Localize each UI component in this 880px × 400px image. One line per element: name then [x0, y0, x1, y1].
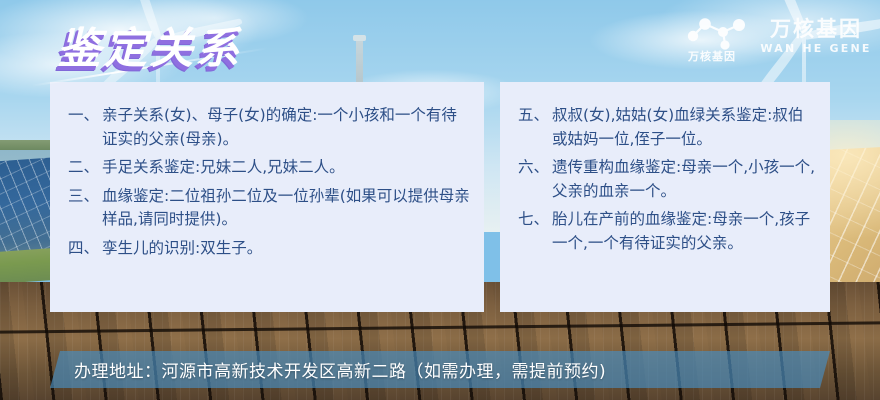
service-list-panel-left: 一、 亲子关系(女)、母子(女)的确定:一个小孩和一个有待证实的父亲(母亲)。 …: [50, 82, 484, 312]
brand-molecule-logo: 万核基因: [683, 16, 761, 64]
brand-wordmark: 万核基因 WAN HE GENE: [760, 18, 872, 55]
list-item: 五、 叔叔(女),姑姑(女)血绿关系鉴定:叔伯或姑妈一位,侄子一位。: [518, 104, 816, 151]
list-item-number: 三、: [68, 185, 102, 209]
list-item-text: 遗传重构血缘鉴定:母亲一个,小孩一个,父亲的血亲一个。: [552, 156, 816, 203]
list-item-number: 六、: [518, 156, 552, 180]
poster-root: 鉴定关系 万核基因 万核基因 WAN HE GENE 一、 亲子关系(女)、母子…: [0, 0, 880, 400]
list-item-number: 五、: [518, 104, 552, 128]
list-item-number: 一、: [68, 104, 102, 128]
list-item-text: 血缘鉴定:二位祖孙二位及一位孙辈(如果可以提供母亲样品,请同时提供)。: [102, 185, 470, 232]
service-list-panel-right: 五、 叔叔(女),姑姑(女)血绿关系鉴定:叔伯或姑妈一位,侄子一位。 六、 遗传…: [500, 82, 830, 312]
list-item-text: 手足关系鉴定:兄妹二人,兄妹二人。: [102, 156, 470, 180]
list-item: 四、 孪生儿的识别:双生子。: [68, 237, 470, 261]
list-item-text: 叔叔(女),姑姑(女)血绿关系鉴定:叔伯或姑妈一位,侄子一位。: [552, 104, 816, 151]
brand-name-en: WAN HE GENE: [760, 42, 872, 55]
address-banner: 办理地址：河源市高新技术开发区高新二路（如需办理，需提前预约): [50, 351, 830, 388]
list-item-number: 七、: [518, 208, 552, 232]
transmission-tower-icon: [356, 40, 363, 86]
list-item: 七、 胎儿在产前的血缘鉴定:母亲一个,孩子一个,一个有待证实的父亲。: [518, 208, 816, 255]
brand-mark-label: 万核基因: [688, 48, 736, 64]
page-title: 鉴定关系: [58, 14, 242, 76]
list-item: 三、 血缘鉴定:二位祖孙二位及一位孙辈(如果可以提供母亲样品,请同时提供)。: [68, 185, 470, 232]
list-item-text: 亲子关系(女)、母子(女)的确定:一个小孩和一个有待证实的父亲(母亲)。: [102, 104, 470, 151]
brand-name-cn: 万核基因: [760, 18, 872, 40]
list-item-text: 胎儿在产前的血缘鉴定:母亲一个,孩子一个,一个有待证实的父亲。: [552, 208, 816, 255]
list-item: 一、 亲子关系(女)、母子(女)的确定:一个小孩和一个有待证实的父亲(母亲)。: [68, 104, 470, 151]
list-item: 二、 手足关系鉴定:兄妹二人,兄妹二人。: [68, 156, 470, 180]
address-banner-text: 办理地址：河源市高新技术开发区高新二路（如需办理，需提前预约): [50, 357, 606, 382]
list-item-number: 二、: [68, 156, 102, 180]
list-item-text: 孪生儿的识别:双生子。: [102, 237, 470, 261]
molecule-icon: [683, 16, 761, 52]
list-item: 六、 遗传重构血缘鉴定:母亲一个,小孩一个,父亲的血亲一个。: [518, 156, 816, 203]
list-item-number: 四、: [68, 237, 102, 261]
